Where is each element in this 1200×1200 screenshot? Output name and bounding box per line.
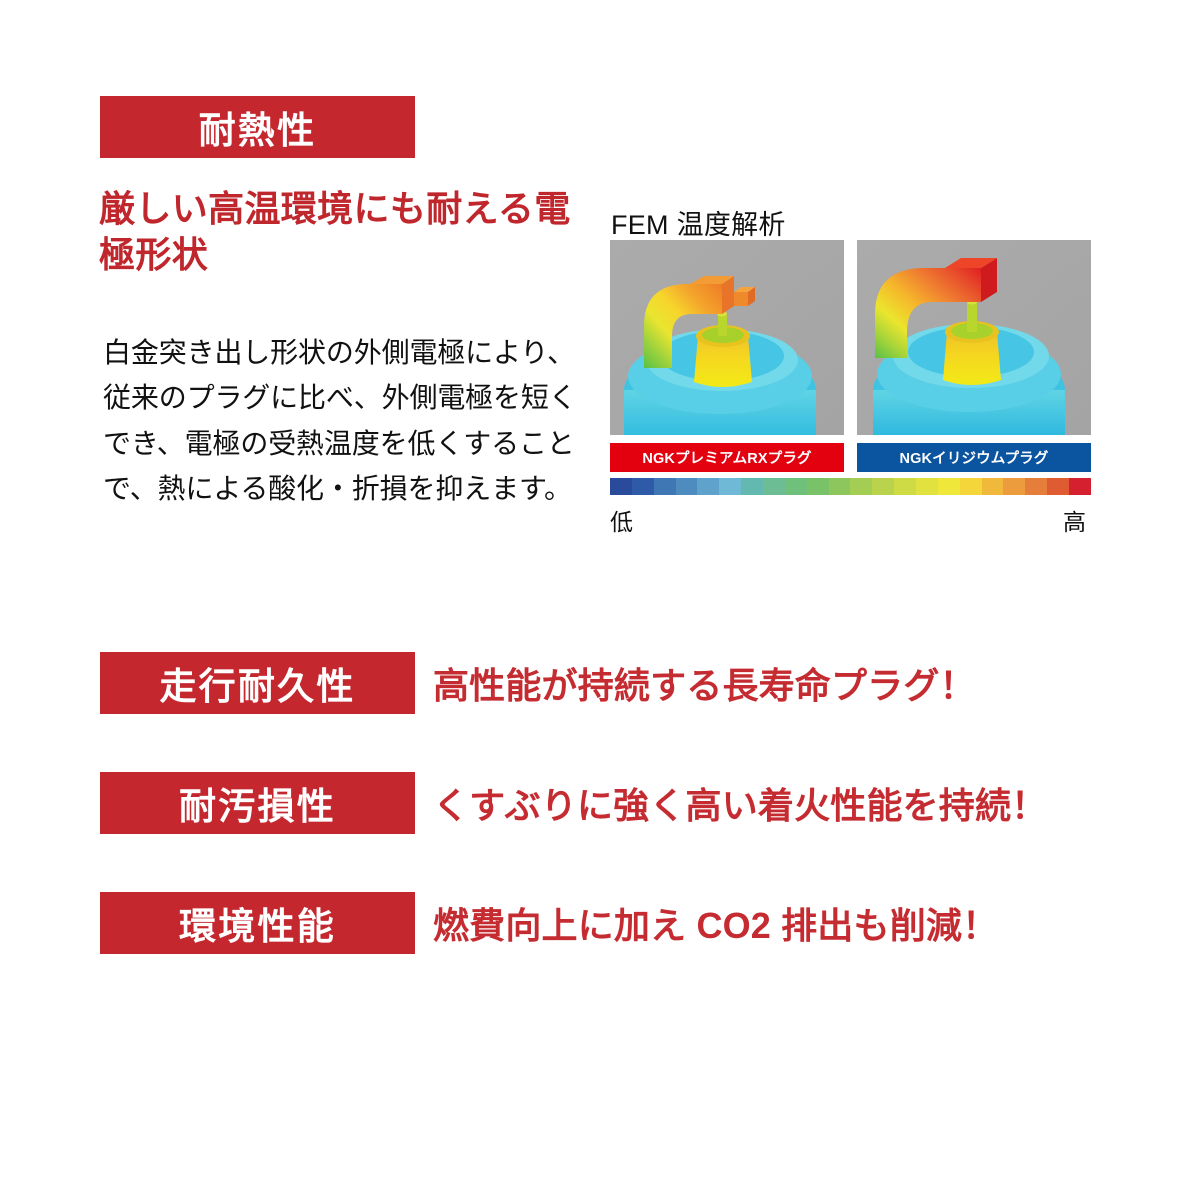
colorbar-band-10 xyxy=(829,478,851,495)
fem-image-iridium xyxy=(857,240,1091,435)
colorbar-band-8 xyxy=(785,478,807,495)
colorbar-band-1 xyxy=(632,478,654,495)
fem-thermal-render-left xyxy=(610,240,844,435)
fem-temperature-colorbar xyxy=(610,478,1091,495)
colorbar-band-17 xyxy=(982,478,1004,495)
colorbar-band-3 xyxy=(676,478,698,495)
colorbar-band-11 xyxy=(850,478,872,495)
colorbar-band-13 xyxy=(894,478,916,495)
colorbar-band-0 xyxy=(610,478,632,495)
colorbar-band-20 xyxy=(1047,478,1069,495)
section-badge-heat-resistance: 耐熱性 xyxy=(100,96,415,158)
colorbar-band-7 xyxy=(763,478,785,495)
fem-caption-iridium: NGKイリジウムプラグ xyxy=(857,443,1091,472)
colorbar-band-16 xyxy=(960,478,982,495)
feature-text-fouling-resistance: くすぶりに強く高い着火性能を持続！ xyxy=(433,772,1047,834)
colorbar-band-12 xyxy=(872,478,894,495)
colorbar-band-6 xyxy=(741,478,763,495)
feature-badge-durability: 走行耐久性 xyxy=(100,652,415,714)
feature-badge-fouling-resistance: 耐汚損性 xyxy=(100,772,415,834)
feature-page: 耐熱性 厳しい高温環境にも耐える電極形状 白金突き出し形状の外側電極により、従来… xyxy=(0,0,1200,1200)
fem-caption-premium-rx: NGKプレミアムRXプラグ xyxy=(610,443,844,472)
colorbar-band-21 xyxy=(1069,478,1091,495)
colorbar-band-14 xyxy=(916,478,938,495)
colorbar-band-9 xyxy=(807,478,829,495)
colorbar-low-label: 低 xyxy=(610,503,633,537)
heat-headline: 厳しい高温環境にも耐える電極形状 xyxy=(99,186,599,278)
colorbar-band-18 xyxy=(1003,478,1025,495)
colorbar-band-15 xyxy=(938,478,960,495)
colorbar-high-label: 高 xyxy=(1063,503,1086,537)
colorbar-band-2 xyxy=(654,478,676,495)
feature-text-durability: 高性能が持続する長寿命プラグ！ xyxy=(433,652,976,714)
fem-thermal-render-right xyxy=(857,240,1091,435)
heat-body-paragraph: 白金突き出し形状の外側電極により、従来のプラグに比べ、外側電極を短くでき、電極の… xyxy=(103,330,581,511)
feature-text-environmental: 燃費向上に加え CO2 排出も削減！ xyxy=(433,892,998,954)
fem-image-premium-rx xyxy=(610,240,844,435)
colorbar-band-4 xyxy=(697,478,719,495)
colorbar-band-5 xyxy=(719,478,741,495)
colorbar-band-19 xyxy=(1025,478,1047,495)
feature-badge-environmental: 環境性能 xyxy=(100,892,415,954)
fem-analysis-title: FEM 温度解析 xyxy=(611,203,786,242)
